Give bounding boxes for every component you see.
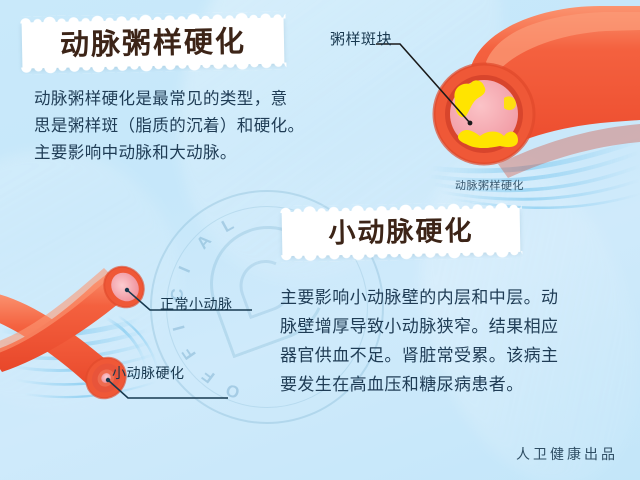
arteriole-normal bbox=[0, 270, 136, 372]
lumen-normal bbox=[106, 267, 145, 307]
paragraph-atherosclerosis: 动脉粥样硬化是最常见的类型，意 思是粥样斑（脂质的沉着）和硬化。 主要影响中动脉… bbox=[34, 85, 334, 166]
paragraph-line: 动脉粥样硬化是最常见的类型，意 bbox=[34, 85, 334, 112]
artery-illustration-atherosclerosis bbox=[376, 6, 640, 178]
infographic-poster: OFFICIAL bbox=[0, 0, 640, 480]
paragraph-line: 脉壁增厚导致小动脉狭窄。结果相应 bbox=[280, 313, 632, 342]
section-title-atherosclerosis: 动脉粥样硬化 bbox=[22, 17, 285, 60]
figure-caption-atherosclerosis: 动脉粥样硬化 bbox=[455, 177, 524, 193]
flow-streaks-decoration bbox=[0, 316, 158, 397]
artery-illustration-arteriosclerosis bbox=[0, 259, 252, 406]
label-plaque: 粥样斑块 bbox=[330, 28, 392, 49]
flow-streaks-decoration bbox=[428, 140, 640, 208]
label-normal-arteriole: 正常小动脉 bbox=[160, 294, 233, 314]
arteriole-sclerotic bbox=[0, 292, 120, 392]
section-title-banner-arteriolosclerosis: 小动脉硬化 bbox=[282, 208, 521, 256]
paragraph-arteriolosclerosis: 主要影响小动脉壁的内层和中层。动 脉壁增厚导致小动脉狭窄。结果相应 器官供血不足… bbox=[280, 284, 632, 400]
lumen-narrowed bbox=[99, 371, 112, 384]
paragraph-line: 器官供血不足。肾脏常受累。该病主 bbox=[280, 342, 632, 371]
paragraph-line: 思是粥样斑（脂质的沉着）和硬化。 bbox=[34, 112, 334, 139]
section-title-arteriolosclerosis: 小动脉硬化 bbox=[282, 208, 521, 248]
plaque-deposit bbox=[504, 96, 516, 110]
paragraph-line: 要发生在高血压和糖尿病患者。 bbox=[280, 371, 632, 400]
plaque-leader-line bbox=[376, 44, 470, 123]
plaque-deposit bbox=[454, 80, 485, 117]
paragraph-line: 主要影响中动脉和大动脉。 bbox=[34, 139, 334, 166]
plaque-deposit bbox=[458, 130, 518, 148]
label-sclerotic-arteriole: 小动脉硬化 bbox=[112, 363, 185, 383]
section-title-banner-atherosclerosis: 动脉粥样硬化 bbox=[22, 17, 285, 68]
publisher-credit: 人卫健康出品 bbox=[516, 444, 618, 464]
paragraph-line: 主要影响小动脉壁的内层和中层。动 bbox=[280, 284, 632, 313]
